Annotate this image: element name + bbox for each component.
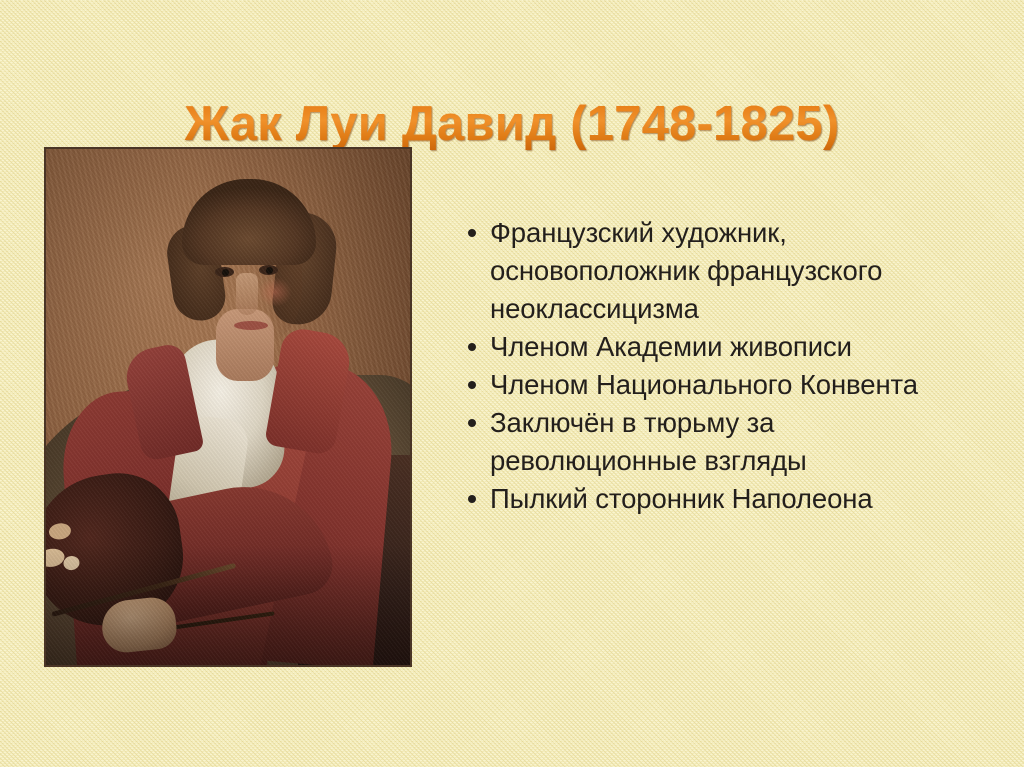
list-item: Членом Национального Конвента [462, 366, 962, 404]
canvas-grain [46, 149, 410, 665]
list-item-label: Французский художник, основоположник фра… [490, 217, 882, 324]
bullet-dot-icon [468, 419, 476, 427]
bullet-dot-icon [468, 343, 476, 351]
bullet-dot-icon [468, 229, 476, 237]
page-title: Жак Луи Давид (1748-1825) [0, 95, 1024, 153]
list-item: Пылкий сторонник Наполеона [462, 480, 962, 518]
bullet-dot-icon [468, 495, 476, 503]
bullet-dot-icon [468, 381, 476, 389]
portrait-image [44, 147, 412, 667]
list-item: Заключён в тюрьму за революционные взгля… [462, 404, 962, 480]
portrait-painting [46, 149, 410, 665]
list-item-label: Членом Академии живописи [490, 331, 852, 362]
list-item-label: Заключён в тюрьму за революционные взгля… [490, 407, 807, 476]
list-item-label: Членом Национального Конвента [490, 369, 918, 400]
list-item: Членом Академии живописи [462, 328, 962, 366]
bullet-list: Французский художник, основоположник фра… [462, 214, 962, 518]
slide-root: Жак Луи Давид (1748-1825) [0, 0, 1024, 767]
list-item-label: Пылкий сторонник Наполеона [490, 483, 873, 514]
list-item: Французский художник, основоположник фра… [462, 214, 962, 328]
